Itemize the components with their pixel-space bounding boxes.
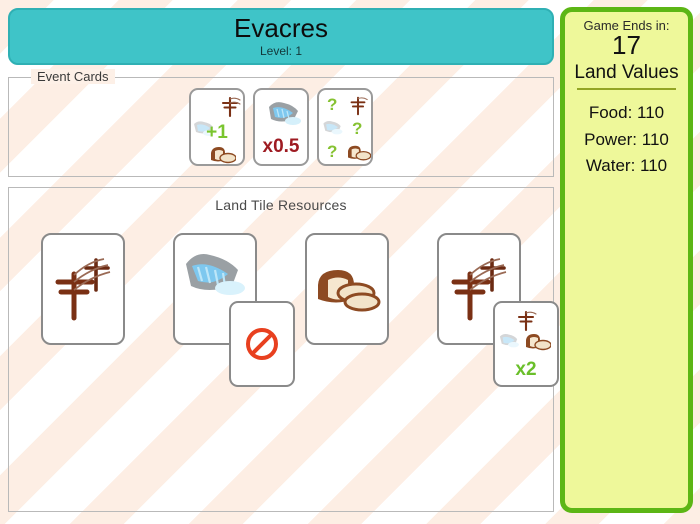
water-icon bbox=[321, 118, 344, 138]
bread-icon bbox=[345, 143, 371, 163]
event-card-water-multiplier[interactable]: x0.5 bbox=[253, 88, 309, 166]
event-cards-row: +1 x0.5 bbox=[9, 88, 553, 166]
land-tiles-heading: Land Tile Resources bbox=[9, 188, 553, 213]
water-icon bbox=[182, 248, 248, 304]
divider bbox=[577, 88, 676, 90]
event-card-value: +1 bbox=[191, 122, 243, 144]
status-sidebar: Game Ends in: 17 Land Values Food: 110 P… bbox=[560, 7, 693, 513]
power-pole-icon bbox=[217, 94, 243, 120]
question-icon: ? bbox=[327, 95, 337, 115]
page-title: Evacres bbox=[234, 15, 328, 42]
land-tiles-panel: Land Tile Resources bbox=[8, 187, 554, 512]
event-cards-panel: Event Cards bbox=[8, 77, 554, 177]
land-tile-power-wrap bbox=[41, 233, 125, 345]
game-screen: Evacres Level: 1 Event Cards bbox=[0, 0, 700, 524]
main-column: Evacres Level: 1 Event Cards bbox=[0, 0, 562, 524]
bread-icon bbox=[208, 144, 236, 166]
question-icon: ? bbox=[327, 142, 337, 162]
land-tile-water-wrap bbox=[173, 233, 257, 345]
question-icon: ? bbox=[352, 119, 362, 139]
level-label: Level: 1 bbox=[260, 44, 302, 58]
land-values-heading: Land Values bbox=[565, 62, 688, 84]
power-pole-icon bbox=[52, 252, 114, 326]
bread-icon bbox=[312, 261, 382, 317]
event-card-food-bonus[interactable]: +1 bbox=[189, 88, 245, 166]
land-tiles-row: x2 bbox=[9, 233, 553, 345]
no-entry-icon bbox=[243, 325, 281, 363]
water-icon bbox=[266, 98, 302, 130]
land-tile-food-wrap bbox=[305, 233, 389, 345]
timer-value: 17 bbox=[565, 32, 688, 59]
water-icon bbox=[497, 331, 521, 351]
land-value-power: Power: 110 bbox=[565, 127, 688, 153]
event-card-unknown[interactable]: ? ? ? bbox=[317, 88, 373, 166]
land-value-water: Water: 110 bbox=[565, 153, 688, 179]
land-tile-power[interactable] bbox=[41, 233, 125, 345]
event-card-value: x0.5 bbox=[255, 136, 307, 158]
event-cards-legend: Event Cards bbox=[31, 69, 115, 84]
land-tile-food[interactable] bbox=[305, 233, 389, 345]
bread-icon bbox=[523, 331, 551, 353]
badge-label: x2 bbox=[515, 360, 536, 379]
land-tile-power-2-wrap: x2 bbox=[437, 233, 521, 345]
power-pole-icon bbox=[346, 94, 370, 118]
title-bar: Evacres Level: 1 bbox=[8, 8, 554, 65]
badge-multiplier[interactable]: x2 bbox=[493, 301, 559, 387]
badge-blocked[interactable] bbox=[229, 301, 295, 387]
land-value-food: Food: 110 bbox=[565, 100, 688, 126]
